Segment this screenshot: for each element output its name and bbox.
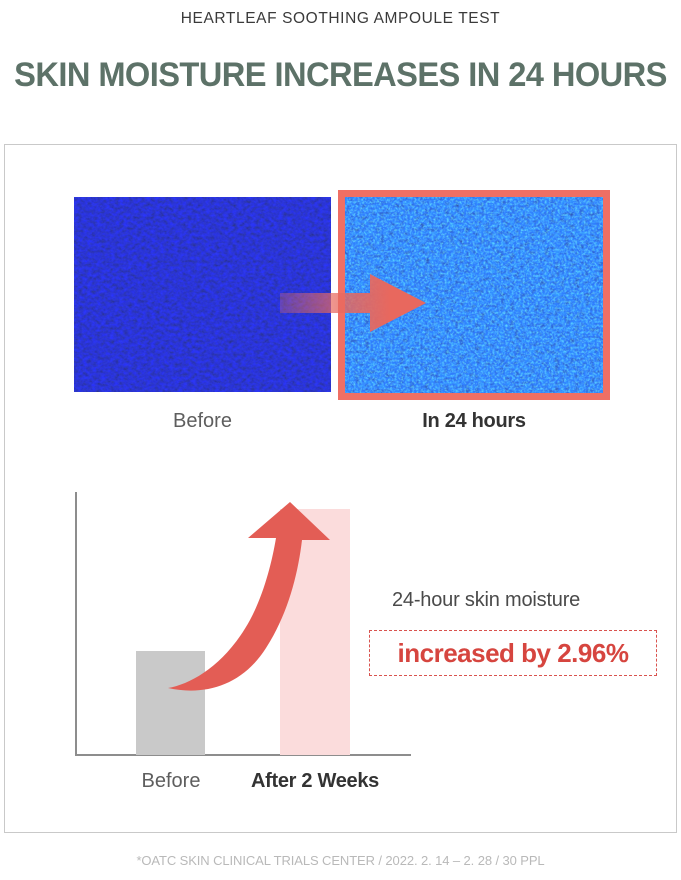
chart-y-axis	[75, 492, 77, 756]
source-footnote: *OATC SKIN CLINICAL TRIALS CENTER / 2022…	[0, 853, 681, 868]
arrow-right-icon	[278, 272, 428, 334]
before-image-caption: Before	[74, 410, 331, 433]
eyebrow-subtitle: HEARTLEAF SOOTHING AMPOULE TEST	[0, 10, 681, 28]
callout-result-box: increased by 2.96%	[369, 630, 657, 676]
callout-heading: 24-hour skin moisture	[392, 589, 580, 612]
after-image-caption: In 24 hours	[338, 410, 610, 433]
chart-xlabel-after: After 2 Weeks	[232, 770, 398, 793]
growth-arrow-icon	[130, 498, 370, 758]
callout-result-text: increased by 2.96%	[398, 638, 629, 669]
chart-xlabel-before: Before	[106, 770, 236, 793]
page-title: SKIN MOISTURE INCREASES IN 24 HOURS	[14, 55, 668, 95]
